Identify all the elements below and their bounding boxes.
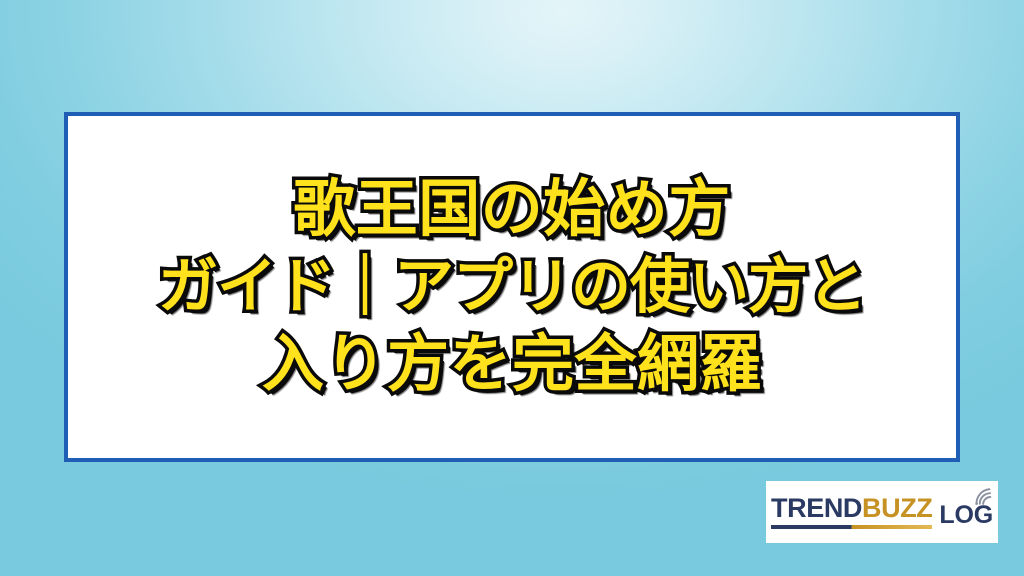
title-block: 歌王国の始め方 ガイド｜アプリの使い方と 入り方を完全網羅 xyxy=(68,170,956,404)
title-card: 歌王国の始め方 ガイド｜アプリの使い方と 入り方を完全網羅 xyxy=(64,112,960,462)
title-line-3: 入り方を完全網羅 xyxy=(76,325,948,404)
wifi-signal-icon xyxy=(973,483,997,505)
title-line-2: ガイド｜アプリの使い方と xyxy=(76,249,948,325)
logo-text-log: LOG xyxy=(939,501,993,529)
logo-underline-bar xyxy=(771,525,932,529)
site-logo[interactable]: TREND BUZZ LOG xyxy=(766,481,998,543)
logo-inner: TREND BUZZ LOG xyxy=(765,495,999,529)
logo-text-trend: TREND xyxy=(771,495,862,522)
thumbnail-canvas: 歌王国の始め方 ガイド｜アプリの使い方と 入り方を完全網羅 TREND BUZZ… xyxy=(0,0,1024,576)
logo-word-row: TREND BUZZ xyxy=(771,495,932,522)
logo-text-buzz: BUZZ xyxy=(862,495,932,522)
logo-wordmark: TREND BUZZ xyxy=(771,495,932,529)
title-line-1: 歌王国の始め方 xyxy=(76,170,948,249)
logo-log-group: LOG xyxy=(939,503,993,529)
